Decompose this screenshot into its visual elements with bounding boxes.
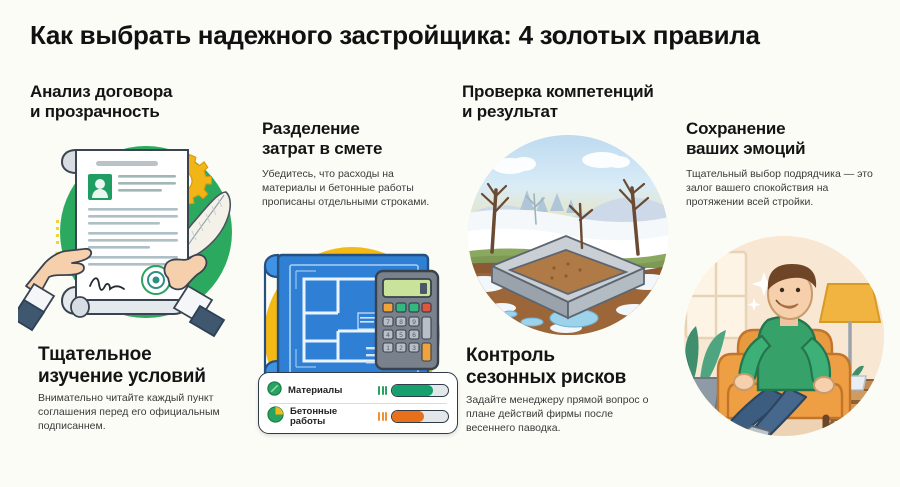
foundation-thaw-illustration xyxy=(462,132,674,338)
tick-marks-materials xyxy=(378,386,387,395)
tick-marks-concrete xyxy=(378,412,387,421)
infographic-page: Как выбрать надежного застройщика: 4 зол… xyxy=(0,0,900,487)
progress-bar-concrete[interactable] xyxy=(391,410,449,423)
svg-text:2: 2 xyxy=(399,345,403,352)
column-competence-body: Задайте менеджеру прямой вопрос о плане … xyxy=(466,394,651,436)
svg-text:6: 6 xyxy=(412,332,416,339)
svg-text:5: 5 xyxy=(399,332,403,339)
column-estimate-top-heading: Разделение затрат в смете xyxy=(262,119,452,159)
column-competence-bottom-heading: Контроль сезонных рисков xyxy=(466,345,666,390)
circle-chart-icon xyxy=(267,381,282,401)
column-estimate-body: Убедитесь, что расходы на материалы и бе… xyxy=(262,168,442,210)
column-competence-top-heading: Проверка компетенций и результат xyxy=(462,82,697,122)
relaxed-man-armchair-illustration xyxy=(676,228,892,444)
svg-text:4: 4 xyxy=(386,332,390,339)
column-analysis-body: Внимательно читайте каждый пункт соглаше… xyxy=(38,392,243,434)
column-emotions-top-heading: Сохранение ваших эмоций xyxy=(686,119,886,159)
column-emotions-body: Тщательный выбор подрядчика — это залог … xyxy=(686,168,886,210)
column-analysis-top-heading: Анализ договора и прозрачность xyxy=(30,82,245,122)
page-title: Как выбрать надежного застройщика: 4 зол… xyxy=(30,20,880,51)
cost-breakdown-legend: Материалы Бетонные работы xyxy=(258,372,458,434)
progress-bar-materials[interactable] xyxy=(391,384,449,397)
legend-label-concrete: Бетонные работы xyxy=(290,407,378,427)
legend-row-concrete[interactable]: Бетонные работы xyxy=(267,404,449,429)
column-analysis-bottom-heading: Тщательное изучение условий xyxy=(38,344,258,389)
contract-signing-illustration xyxy=(18,128,253,340)
svg-text:7: 7 xyxy=(386,319,390,326)
svg-text:8: 8 xyxy=(399,319,403,326)
svg-text:3: 3 xyxy=(412,345,416,352)
legend-row-materials[interactable]: Материалы xyxy=(267,378,449,403)
pie-chart-icon xyxy=(267,406,284,428)
legend-label-materials: Материалы xyxy=(288,386,378,396)
svg-text:1: 1 xyxy=(386,345,390,352)
svg-text:9: 9 xyxy=(412,319,416,326)
